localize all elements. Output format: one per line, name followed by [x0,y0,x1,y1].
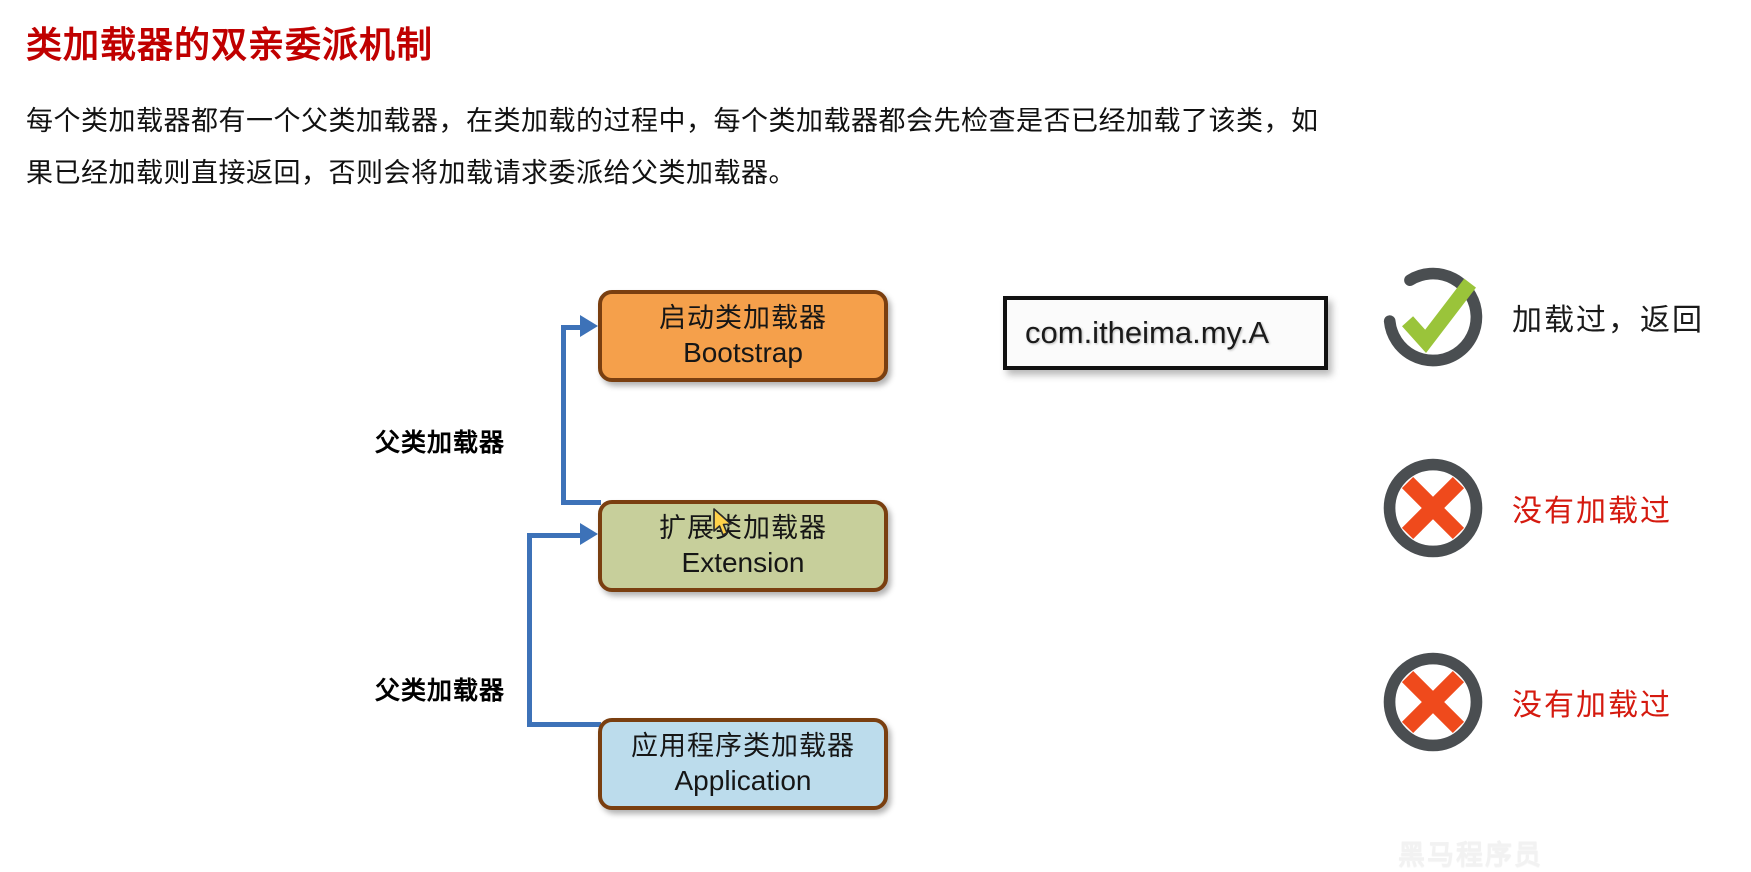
slide-canvas: 类加载器的双亲委派机制 每个类加载器都有一个父类加载器，在类加载的过程中，每个类… [0,0,1751,871]
loader-box-application-en: Application [675,763,812,799]
connector-extension-to-bootstrap-vertical [561,325,566,505]
arrowhead-to-extension [580,523,598,545]
status-row-bootstrap: 加载过，返回 [1380,264,1704,370]
loader-box-bootstrap-cn: 启动类加载器 [659,301,827,335]
connector-application-stub [527,722,601,727]
status-row-application: 没有加载过 [1380,649,1672,755]
loader-box-bootstrap[interactable]: 启动类加载器 Bootstrap [598,290,888,382]
connector-application-to-extension-vertical [527,533,532,725]
loader-box-bootstrap-en: Bootstrap [683,335,803,371]
status-text-application: 没有加载过 [1512,680,1672,724]
connector-application-to-extension-horizontal [527,533,583,538]
status-text-bootstrap: 加载过，返回 [1512,295,1704,339]
watermark-text: 黑马程序员 [1398,833,1543,872]
loader-box-application-cn: 应用程序类加载器 [631,729,855,763]
parent-loader-label-upper: 父类加载器 [375,423,505,459]
status-text-extension: 没有加载过 [1512,486,1672,530]
class-name-box[interactable]: com.itheima.my.A [1003,296,1328,370]
loader-box-extension-cn: 扩展类加载器 [659,511,827,545]
arrowhead-to-bootstrap [580,315,598,337]
loader-box-extension[interactable]: 扩展类加载器 Extension [598,500,888,592]
connector-extension-stub [561,500,601,505]
status-row-extension: 没有加载过 [1380,455,1672,561]
class-name-text: com.itheima.my.A [1007,315,1269,351]
cross-circle-icon [1380,649,1486,755]
paragraph-line-1: 每个类加载器都有一个父类加载器，在类加载的过程中，每个类加载器都会先检查是否已经… [26,95,1586,147]
body-paragraph: 每个类加载器都有一个父类加载器，在类加载的过程中，每个类加载器都会先检查是否已经… [26,95,1586,199]
page-title: 类加载器的双亲委派机制 [26,16,433,68]
loader-box-application[interactable]: 应用程序类加载器 Application [598,718,888,810]
check-circle-icon [1380,264,1486,370]
parent-loader-label-lower: 父类加载器 [375,671,505,707]
cross-circle-icon [1380,455,1486,561]
paragraph-line-2: 果已经加载则直接返回，否则会将加载请求委派给父类加载器。 [26,147,1586,199]
loader-box-extension-en: Extension [682,545,805,581]
